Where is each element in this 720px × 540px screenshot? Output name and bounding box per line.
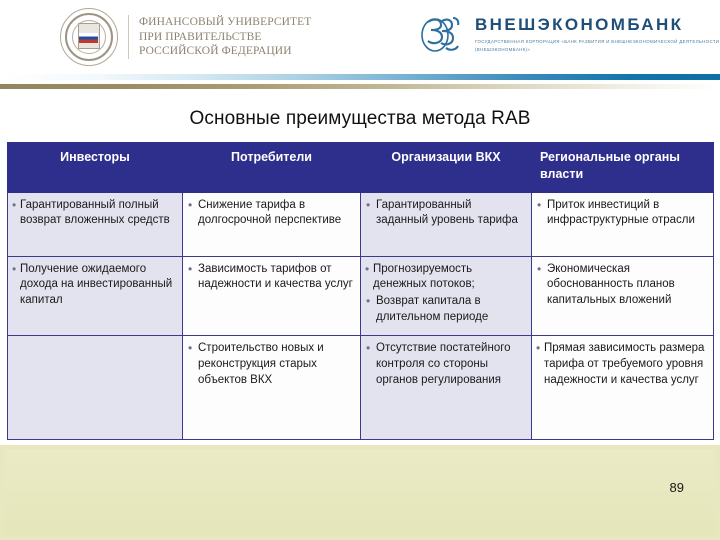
vnesheconombank-subtitle: ГОСУДАРСТВЕННАЯ КОРПОРАЦИЯ «БАНК РАЗВИТИ… [475, 38, 720, 55]
cell-investors-2: Получение ожидаемого дохода на инвестиро… [8, 256, 183, 335]
vnesheconombank-title: ВНЕШЭКОНОМБАНК [475, 16, 720, 33]
column-header-investors: Инвесторы [8, 143, 183, 193]
bullet-item: Экономическая обоснованность планов капи… [536, 262, 706, 310]
bullet-item: Прямая зависимость размера тарифа от тре… [536, 341, 706, 389]
finuniversity-line2: ПРИ ПРАВИТЕЛЬСТВЕ [139, 30, 311, 44]
vnesheconombank-logo: ВНЕШЭКОНОМБАНК ГОСУДАРСТВЕННАЯ КОРПОРАЦИ… [420, 12, 720, 58]
cell-investors-1: Гарантированный полный возврат вложенных… [8, 192, 183, 256]
bullet-item: Строительство новых и реконструкция стар… [187, 341, 353, 389]
slide-footer: 89 [0, 445, 720, 540]
page-number: 89 [670, 480, 684, 495]
table-row: Строительство новых и реконструкция стар… [8, 335, 714, 439]
vnesheconombank-monogram-icon [420, 12, 466, 58]
footer-panel [4, 449, 716, 536]
cell-authorities-3: Прямая зависимость размера тарифа от тре… [532, 335, 714, 439]
coat-of-arms-seal-icon [60, 8, 118, 66]
gold-gradient-rule [0, 84, 720, 89]
seal-shield-icon [78, 23, 100, 49]
cell-organizations-3: Отсутствие постатейного контроля со стор… [361, 335, 532, 439]
table-row: Гарантированный полный возврат вложенных… [8, 192, 714, 256]
cell-organizations-1: Гарантированный заданный уровень тарифа [361, 192, 532, 256]
bullet-item: Гарантированный полный возврат вложенных… [12, 198, 175, 230]
table-header-row: Инвесторы Потребители Организации ВКХ Ре… [8, 143, 714, 193]
cell-consumers-3: Строительство новых и реконструкция стар… [183, 335, 361, 439]
page-title: Основные преимущества метода RAB [0, 108, 720, 130]
column-header-organizations: Организации ВКХ [361, 143, 532, 193]
bullet-item: Получение ожидаемого дохода на инвестиро… [12, 262, 175, 310]
column-header-consumers: Потребители [183, 143, 361, 193]
bullet-item: Прогнозируемость денежных потоков; [365, 262, 524, 294]
finuniversity-line3: РОССИЙСКОЙ ФЕДЕРАЦИИ [139, 44, 311, 58]
cell-consumers-1: Снижение тарифа в долгосрочной перспекти… [183, 192, 361, 256]
cell-investors-3 [8, 335, 183, 439]
bullet-item: Возврат капитала в длительном периоде [365, 294, 524, 326]
logo-band: ФИНАНСОВЫЙ УНИВЕРСИТЕТ ПРИ ПРАВИТЕЛЬСТВЕ… [0, 0, 720, 72]
finuniversity-logo: ФИНАНСОВЫЙ УНИВЕРСИТЕТ ПРИ ПРАВИТЕЛЬСТВЕ… [60, 8, 311, 66]
logo-divider [128, 15, 129, 59]
cell-authorities-1: Приток инвестиций в инфраструктурные отр… [532, 192, 714, 256]
column-header-authorities: Региональные органы власти [532, 143, 714, 193]
finuniversity-logo-text: ФИНАНСОВЫЙ УНИВЕРСИТЕТ ПРИ ПРАВИТЕЛЬСТВЕ… [139, 15, 311, 58]
blue-gradient-rule [0, 74, 720, 80]
finuniversity-line1: ФИНАНСОВЫЙ УНИВЕРСИТЕТ [139, 15, 311, 29]
bullet-item: Гарантированный заданный уровень тарифа [365, 198, 524, 230]
table-row: Получение ожидаемого дохода на инвестиро… [8, 256, 714, 335]
bullet-item: Снижение тарифа в долгосрочной перспекти… [187, 198, 353, 230]
cell-authorities-2: Экономическая обоснованность планов капи… [532, 256, 714, 335]
slide-canvas: ФИНАНСОВЫЙ УНИВЕРСИТЕТ ПРИ ПРАВИТЕЛЬСТВЕ… [0, 0, 720, 540]
cell-consumers-2: Зависимость тарифов от надежности и каче… [183, 256, 361, 335]
bullet-item: Зависимость тарифов от надежности и каче… [187, 262, 353, 294]
bullet-item: Отсутствие постатейного контроля со стор… [365, 341, 524, 389]
cell-organizations-2: Прогнозируемость денежных потоков; Возвр… [361, 256, 532, 335]
bullet-item: Приток инвестиций в инфраструктурные отр… [536, 198, 706, 230]
advantages-table: Инвесторы Потребители Организации ВКХ Ре… [7, 142, 714, 440]
